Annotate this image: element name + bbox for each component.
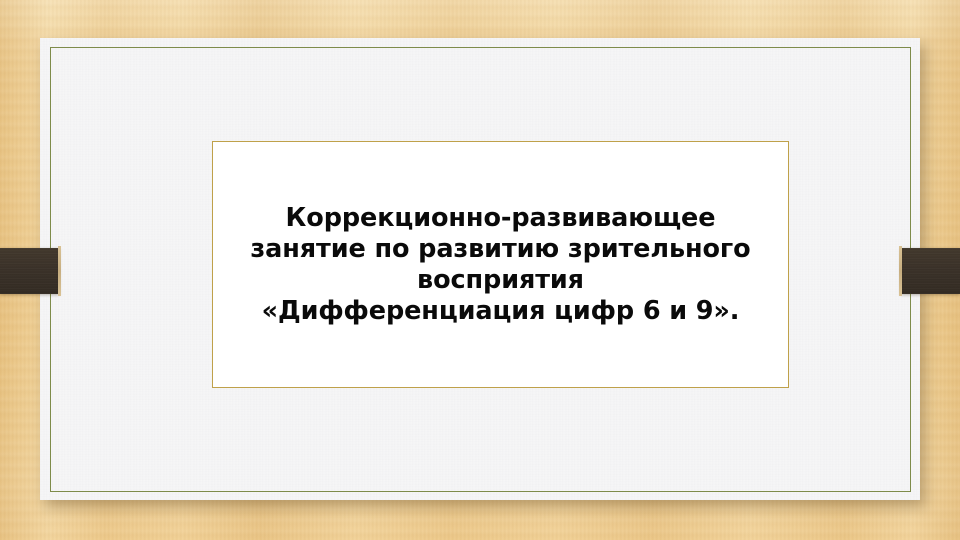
title-line-4: «Дифференциация цифр 6 и 9». xyxy=(221,296,780,327)
title-textbox[interactable]: Коррекционно-развивающее занятие по разв… xyxy=(212,141,789,388)
title-text-block: Коррекционно-развивающее занятие по разв… xyxy=(213,203,788,327)
right-ribbon-tab xyxy=(901,248,960,294)
left-ribbon-tab xyxy=(0,248,59,294)
title-line-3: восприятия xyxy=(221,265,780,296)
title-line-2: занятие по развитию зрительного xyxy=(221,234,780,265)
title-line-1: Коррекционно-развивающее xyxy=(221,203,780,234)
presentation-slide: Коррекционно-развивающее занятие по разв… xyxy=(0,0,960,540)
